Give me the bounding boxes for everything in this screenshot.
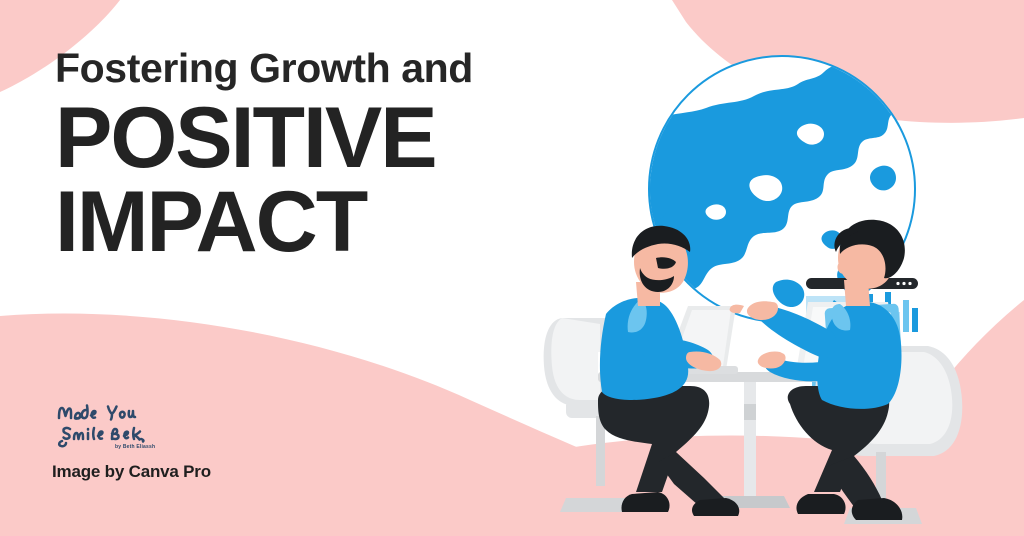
headline-block: Fostering Growth and POSITIVE IMPACT [55, 48, 575, 264]
brand-block: by Beth Eliassh Image by Canva Pro [52, 398, 302, 482]
desk-leg-joint [744, 404, 756, 420]
headline-word-positive: POSITIVE [55, 90, 436, 186]
headline-word-impact: IMPACT [55, 180, 575, 264]
left-person-shoe [621, 492, 669, 512]
image-credit: Image by Canva Pro [52, 462, 302, 482]
banner-canvas: Fostering Growth and POSITIVE IMPACT [0, 0, 1024, 536]
browser-dot [902, 282, 905, 285]
desk-leg [744, 382, 756, 496]
illustration-people-globe [540, 0, 1024, 536]
headline-subline: Fostering Growth and [55, 48, 575, 90]
left-person-shoe [692, 498, 739, 516]
right-person-shoe [852, 498, 903, 520]
page-title: POSITIVE IMPACT [55, 96, 575, 265]
logo-byline: by Beth Eliassh [115, 444, 155, 450]
made-you-smile-back-logo: by Beth Eliassh [52, 398, 162, 450]
browser-dot [896, 282, 899, 285]
browser-dot [908, 282, 911, 285]
right-person-shoe [796, 494, 845, 514]
